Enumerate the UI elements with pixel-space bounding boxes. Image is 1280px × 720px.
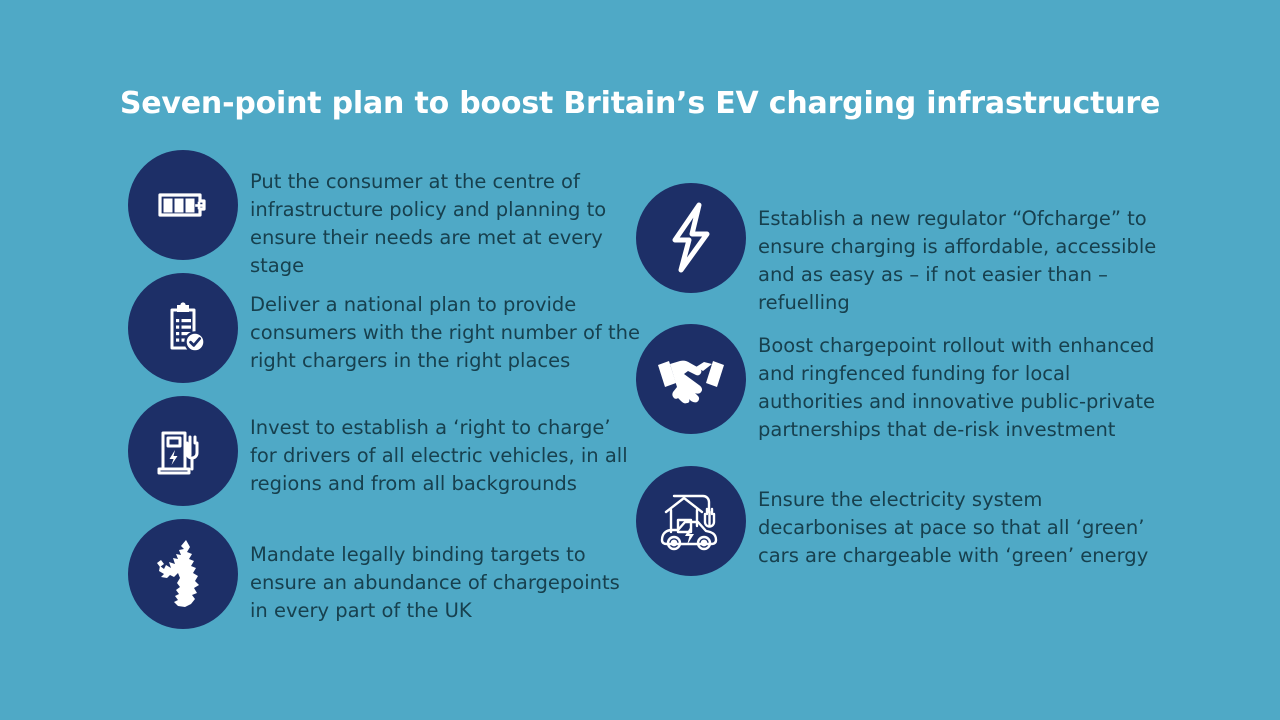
- list-item: Put the consumer at the centre of infras…: [128, 150, 642, 280]
- points-container: Put the consumer at the centre of infras…: [0, 146, 1280, 666]
- uk-map-badge: [128, 519, 238, 629]
- charging-station-icon: [151, 419, 215, 483]
- clipboard-checklist-icon: [152, 297, 214, 359]
- list-item: Mandate legally binding targets to ensur…: [128, 519, 642, 629]
- list-item: Establish a new regulator “Ofcharge” to …: [636, 183, 1176, 317]
- handshake-icon: [654, 351, 728, 407]
- list-item-label: Put the consumer at the centre of infras…: [238, 150, 642, 280]
- infographic-poster: Seven-point plan to boost Britain’s EV c…: [0, 0, 1280, 720]
- charging-station-badge: [128, 396, 238, 506]
- battery-plus-badge: [128, 150, 238, 260]
- lightning-bolt-icon: [659, 200, 723, 276]
- list-item-label: Mandate legally binding targets to ensur…: [238, 519, 642, 625]
- list-item-label: Invest to establish a ‘right to charge’ …: [238, 396, 642, 498]
- list-item-label: Boost chargepoint rollout with enhanced …: [746, 324, 1176, 444]
- page-title: Seven-point plan to boost Britain’s EV c…: [0, 84, 1280, 124]
- list-item-label: Ensure the electricity system decarbonis…: [746, 466, 1176, 570]
- handshake-badge: [636, 324, 746, 434]
- clipboard-checklist-badge: [128, 273, 238, 383]
- house-ev-car-icon: [654, 488, 728, 554]
- list-item: Invest to establish a ‘right to charge’ …: [128, 396, 642, 506]
- list-item: Deliver a national plan to provide consu…: [128, 273, 642, 383]
- house-ev-car-badge: [636, 466, 746, 576]
- uk-map-icon: [154, 538, 212, 610]
- battery-plus-icon: [152, 174, 214, 236]
- list-item: Ensure the electricity system decarbonis…: [636, 466, 1176, 576]
- list-item-label: Establish a new regulator “Ofcharge” to …: [746, 183, 1176, 317]
- list-item: Boost chargepoint rollout with enhanced …: [636, 324, 1176, 444]
- lightning-bolt-badge: [636, 183, 746, 293]
- list-item-label: Deliver a national plan to provide consu…: [238, 273, 642, 375]
